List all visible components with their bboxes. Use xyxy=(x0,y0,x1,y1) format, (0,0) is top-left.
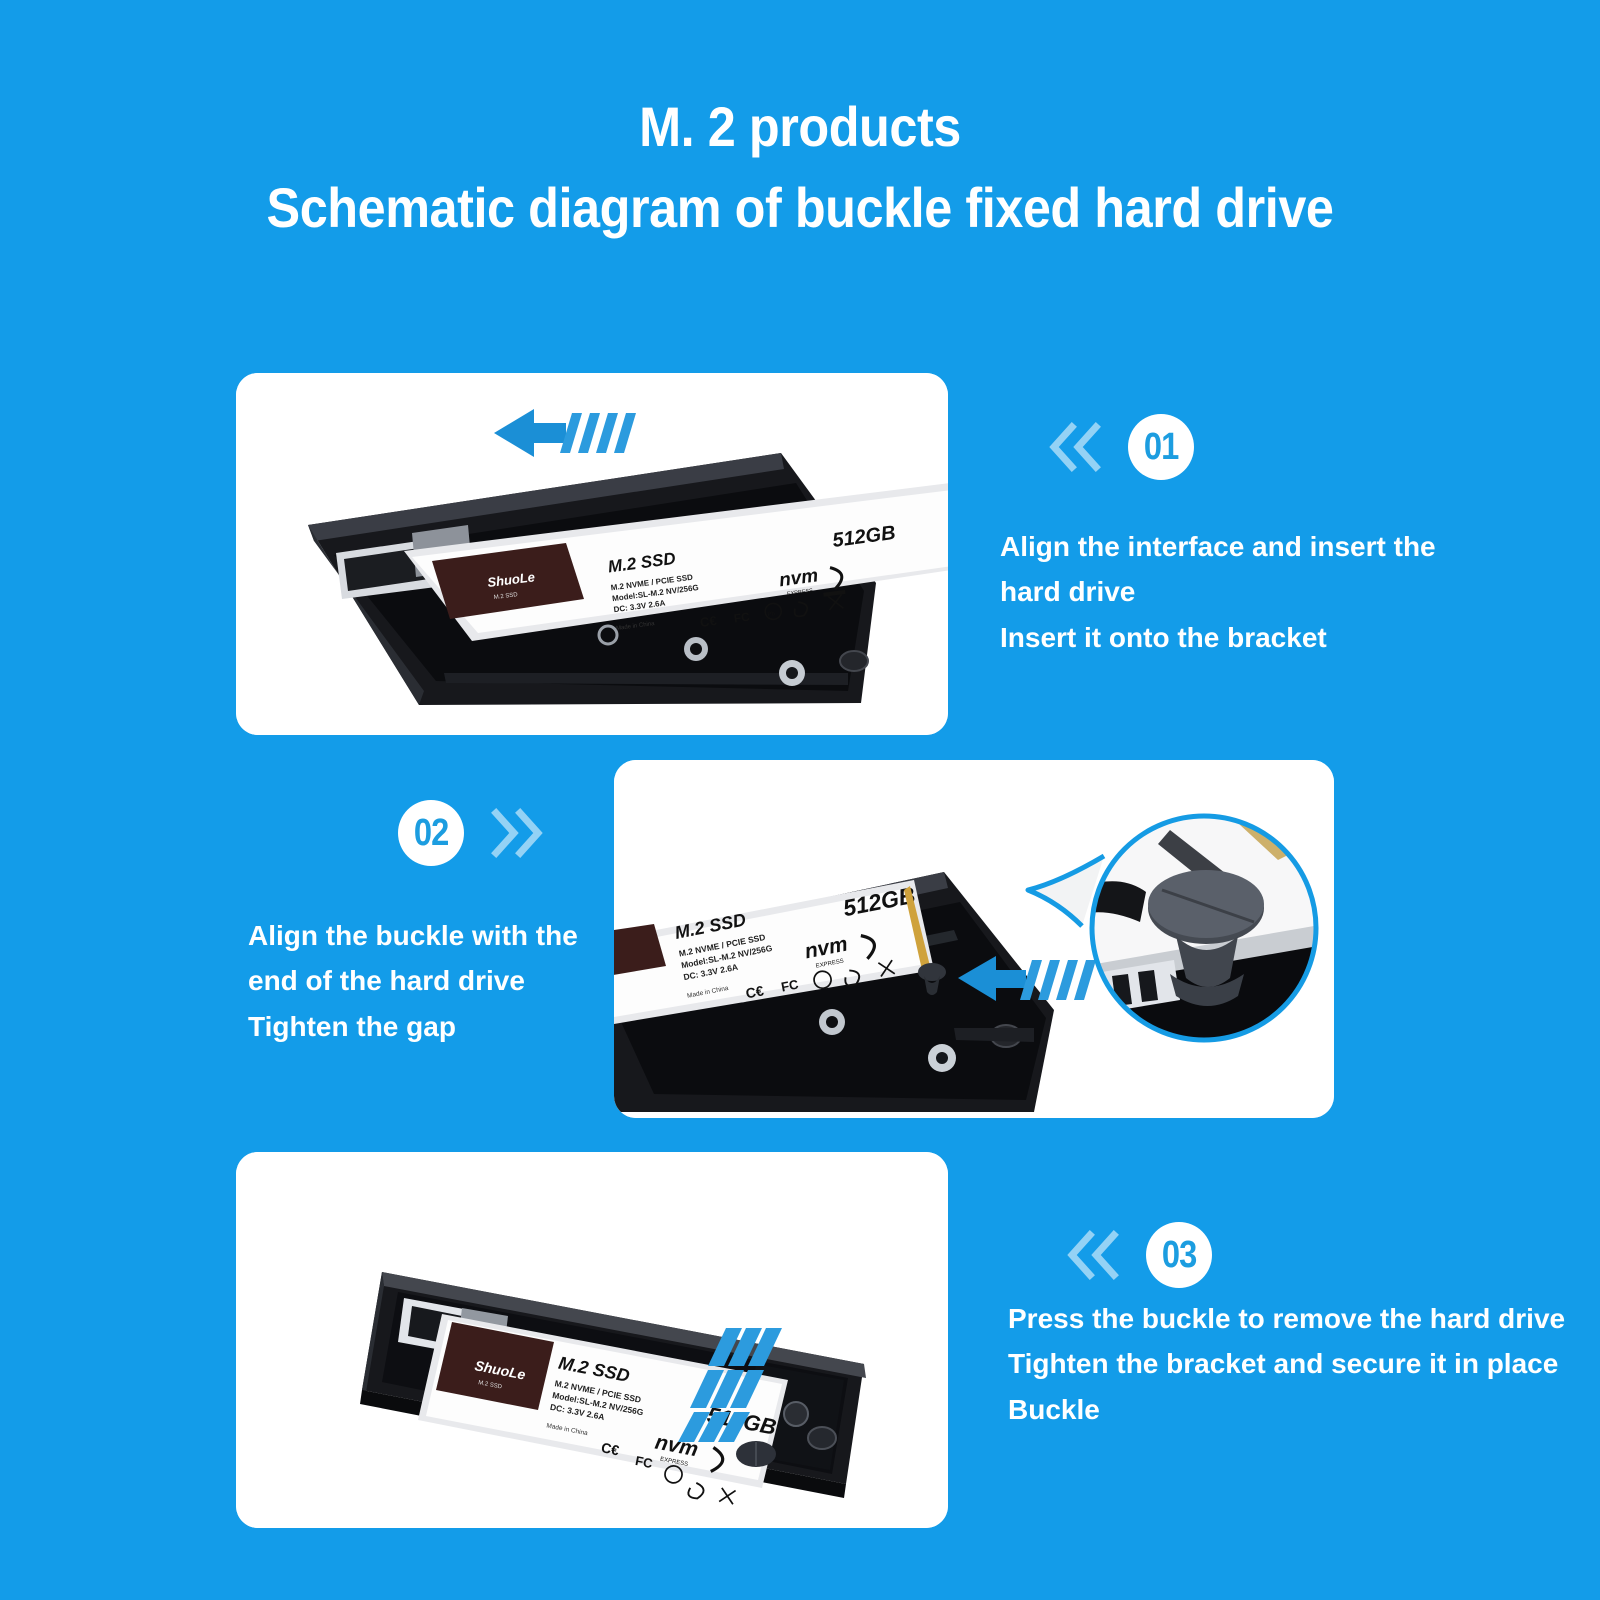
step-1-line-3: Insert it onto the bracket xyxy=(1000,615,1436,660)
step-number-2: 02 xyxy=(414,814,449,852)
step-number-badge-3: 03 xyxy=(1146,1222,1212,1288)
title-line-1: M. 2 products xyxy=(80,96,1520,159)
step-photo-card-1: ShuoLe M.2 SSD M.2 SSD M.2 NVME / PCIE S… xyxy=(236,373,948,735)
ssd-photo-2: M.2 SSD M.2 NVME / PCIE SSD Model:SL-M.2… xyxy=(614,760,1334,1118)
step-3-line-2: Tighten the bracket and secure it in pla… xyxy=(1008,1341,1565,1386)
step-photo-card-3: ShuoLe M.2 SSD M.2 SSD M.2 NVME / PCIE S… xyxy=(236,1152,948,1528)
step-number-1: 01 xyxy=(1144,428,1179,466)
step-3-line-3: Buckle xyxy=(1008,1387,1565,1432)
step-number-badge-1: 01 xyxy=(1128,414,1194,480)
step-2-line-2: end of the hard drive xyxy=(248,958,578,1003)
step-3-line-1: Press the buckle to remove the hard driv… xyxy=(1008,1296,1565,1341)
step-photo-card-2: M.2 SSD M.2 NVME / PCIE SSD Model:SL-M.2… xyxy=(614,760,1334,1118)
ssd-photo-3: ShuoLe M.2 SSD M.2 SSD M.2 NVME / PCIE S… xyxy=(236,1152,948,1528)
ssd-photo-1: ShuoLe M.2 SSD M.2 SSD M.2 NVME / PCIE S… xyxy=(236,373,948,735)
chevron-double-right-icon xyxy=(488,807,546,859)
step-2-line-1: Align the buckle with the xyxy=(248,913,578,958)
chevron-double-left-icon xyxy=(1064,1229,1122,1281)
svg-text:FC: FC xyxy=(733,610,751,626)
page-title: M. 2 products Schematic diagram of buckl… xyxy=(0,96,1600,239)
step-number-3: 03 xyxy=(1162,1236,1197,1274)
svg-text:C€: C€ xyxy=(600,1439,621,1458)
step-description-3: Press the buckle to remove the hard driv… xyxy=(1008,1296,1565,1432)
buckle-rivet xyxy=(736,1441,776,1467)
step-badge-row-2: 02 xyxy=(398,800,546,866)
step-badge-row-1: 01 xyxy=(1046,414,1194,480)
step-badge-row-3: 03 xyxy=(1064,1222,1212,1288)
step-1-line-1: Align the interface and insert the xyxy=(1000,524,1436,569)
svg-text:C€: C€ xyxy=(699,613,717,630)
svg-text:C€: C€ xyxy=(744,982,765,1001)
chevron-double-left-icon xyxy=(1046,421,1104,473)
step-description-2: Align the buckle with the end of the har… xyxy=(248,913,578,1049)
title-line-2: Schematic diagram of buckle fixed hard d… xyxy=(80,177,1520,240)
infographic-root: M. 2 products Schematic diagram of buckl… xyxy=(0,0,1600,1600)
step-2-line-3: Tighten the gap xyxy=(248,1004,578,1049)
step-number-badge-2: 02 xyxy=(398,800,464,866)
step-description-1: Align the interface and insert the hard … xyxy=(1000,524,1436,660)
step-1-line-2: hard drive xyxy=(1000,569,1436,614)
